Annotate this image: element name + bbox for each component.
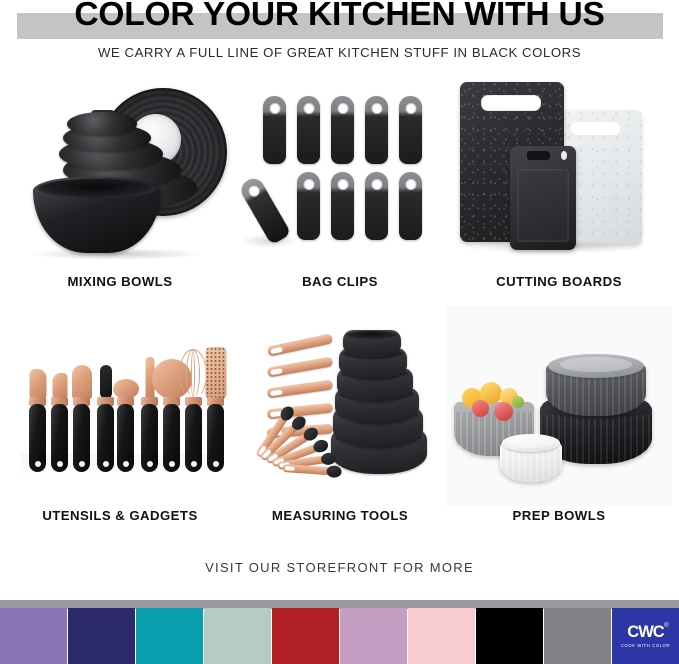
bag-clip-icon [297, 96, 320, 164]
product-cell-prep-bowls[interactable]: PREP BOWLS [446, 306, 672, 540]
swatch-gray [544, 608, 611, 664]
product-cell-bag-clips[interactable]: BAG CLIPS [227, 72, 453, 306]
brand-logo-text: CWC ® [627, 624, 663, 641]
brand-logo: CWC ® COOK WITH COLOR [612, 608, 679, 664]
bowl-lid-1-icon [67, 112, 137, 136]
measuring-cup-handle [267, 356, 334, 377]
cutting-boards-image [446, 72, 672, 272]
bag-clip-icon [399, 172, 422, 240]
product-cell-mixing-bowls[interactable]: MIXING BOWLS [7, 72, 233, 306]
product-cell-measuring-tools[interactable]: MEASURING TOOLS [227, 306, 453, 540]
product-label-bag-clips: BAG CLIPS [227, 274, 453, 289]
bag-clip-icon [331, 96, 354, 164]
swatch-sage [204, 608, 271, 664]
color-strip: CWC ® COOK WITH COLOR [0, 600, 679, 664]
bag-clips-image [227, 72, 453, 272]
brand-tagline: COOK WITH COLOR [621, 643, 670, 648]
banner-header: COLOR YOUR KITCHEN WITH US WE CARRY A FU… [0, 0, 679, 70]
swatch-row: CWC ® COOK WITH COLOR [0, 608, 679, 664]
product-grid: MIXING BOWLS BAG CLIPS [0, 72, 679, 550]
mixing-bowl-large-icon [33, 177, 161, 253]
brand-logo-letters: CWC [627, 623, 663, 641]
prep-bowls-image [446, 306, 672, 506]
swatch-navy [68, 608, 135, 664]
storefront-note: VISIT OUR STOREFRONT FOR MORE [0, 560, 679, 575]
bag-clip-icon [263, 96, 286, 164]
swatch-black [476, 608, 543, 664]
prep-bowl-gray-lid-icon [548, 354, 644, 378]
swatch-red [272, 608, 339, 664]
measuring-cup-handle [267, 379, 334, 398]
registered-mark-icon: ® [664, 623, 668, 629]
promo-banner: COLOR YOUR KITCHEN WITH US WE CARRY A FU… [0, 0, 679, 664]
swatch-mauve [340, 608, 407, 664]
bag-clip-icon [399, 96, 422, 164]
bowl-shadow [31, 248, 201, 260]
bag-clip-icon [297, 172, 320, 240]
product-label-cutting-boards: CUTTING BOARDS [446, 274, 672, 289]
bag-clip-icon [365, 96, 388, 164]
product-label-measuring-tools: MEASURING TOOLS [227, 508, 453, 523]
measuring-tools-image [227, 306, 453, 506]
bag-clip-icon [331, 172, 354, 240]
clip-shadow [239, 234, 299, 248]
board-shadow [462, 240, 642, 254]
cutting-board-dark-small-icon [510, 146, 576, 250]
page-subtitle: WE CARRY A FULL LINE OF GREAT KITCHEN ST… [0, 45, 679, 60]
product-label-utensils-gadgets: UTENSILS & GADGETS [7, 508, 233, 523]
page-title: COLOR YOUR KITCHEN WITH US [0, 0, 679, 34]
utensils-gadgets-image [7, 306, 233, 506]
measuring-cup-icon [343, 330, 401, 358]
measuring-cup-handle [267, 333, 334, 357]
mixing-bowls-image [7, 72, 233, 272]
prep-bowl-white-lid-icon [502, 434, 560, 452]
bag-clip-icon [365, 172, 388, 240]
product-cell-cutting-boards[interactable]: CUTTING BOARDS [446, 72, 672, 306]
product-label-mixing-bowls: MIXING BOWLS [7, 274, 233, 289]
swatch-teal [136, 608, 203, 664]
swatch-purple [0, 608, 67, 664]
product-cell-utensils-gadgets[interactable]: UTENSILS & GADGETS [7, 306, 233, 540]
utensils-reflection [21, 454, 211, 490]
product-label-prep-bowls: PREP BOWLS [446, 508, 672, 523]
swatch-pink [408, 608, 475, 664]
